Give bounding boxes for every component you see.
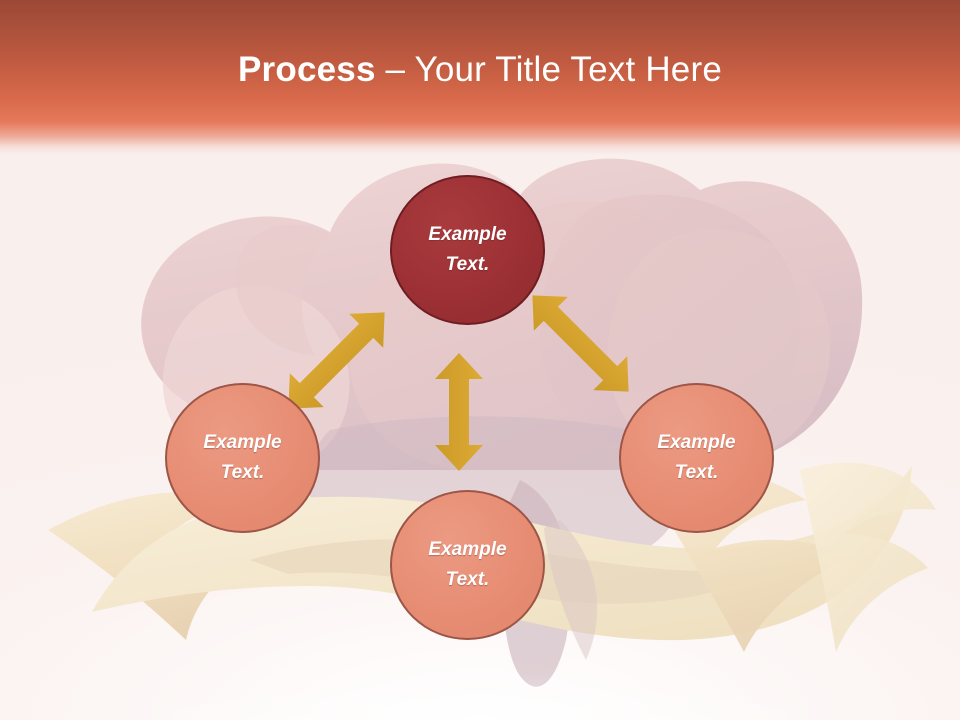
process-node-bottom[interactable]: Example Text. — [390, 490, 545, 640]
page-title-bold: Process — [238, 50, 376, 89]
slide-canvas: Process – Your Title Text Here Example T… — [0, 0, 960, 720]
node-center-line1: Example — [428, 220, 506, 250]
process-node-left[interactable]: Example Text. — [165, 383, 320, 533]
process-node-center[interactable]: Example Text. — [390, 175, 545, 325]
node-bottom-line1: Example — [428, 535, 506, 565]
process-node-right[interactable]: Example Text. — [619, 383, 774, 533]
node-right-line1: Example — [657, 428, 735, 458]
page-title: Process – Your Title Text Here — [0, 48, 960, 92]
node-left-line2: Text. — [221, 458, 265, 488]
page-title-rest: – Your Title Text Here — [376, 50, 722, 89]
node-left-line1: Example — [203, 428, 281, 458]
node-right-line2: Text. — [675, 458, 719, 488]
node-center-line2: Text. — [446, 250, 490, 280]
node-bottom-line2: Text. — [446, 565, 490, 595]
